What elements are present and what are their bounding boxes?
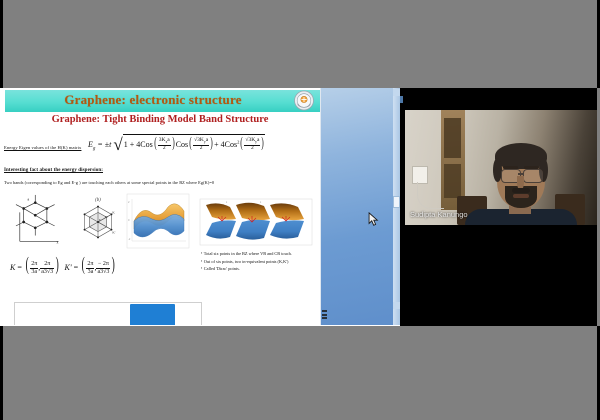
fraction-3-denominator: 2 [244,146,260,152]
radical-sign: √ [113,135,122,154]
radicand-head: 1 + 4Cos [124,140,153,149]
paren-open-2: ( [189,135,192,152]
f2nt: a [206,137,208,143]
k-paren-close: ) [56,254,59,276]
scroll-up-arrow-icon[interactable] [393,89,400,96]
fraction-2: √3Kya2 [193,138,209,152]
kp-y-num: − 2π [96,261,110,268]
svg-text:a: a [28,198,30,202]
formula-plus-sup: 2 [237,139,239,144]
webcam-left-edge [400,88,403,326]
webcam-edge-marker [400,96,403,103]
f2n: √3K [194,137,204,143]
slide-title: Graphene: electronic structure [28,92,278,108]
f3nt: a [257,137,259,143]
eyeglass-bridge [518,173,524,175]
f3n: √3K [245,137,255,143]
interesting-fact-heading: Interesting fact about the energy disper… [4,168,103,173]
scroll-down-arrow-icon[interactable] [393,302,400,309]
k-y-num: 2π [40,261,54,268]
door-panel-upper [444,118,461,158]
dirac-cone-3d-plot: kk [196,195,316,249]
energy-eigenvalue-formula: Eg = ±t √ 1 + 4Cos(3Kxa2)Cos(√3Kya2)+ 4C… [88,134,318,162]
kprime-equals: = [74,263,79,272]
scrollbar-thumb[interactable] [393,196,400,208]
panel-grip-dots-icon[interactable] [322,310,327,323]
bullet-item: Called 'Dirac' points. [201,265,316,273]
f1nt: a [167,137,169,143]
svg-text:M: M [105,215,108,219]
dirac-point-bullets: Total six points in the BZ where VB and … [196,250,316,273]
webcam-panel[interactable]: Sudipta Kanungo [400,88,597,326]
k-y-den: a3√3 [40,269,54,275]
honeycomb-lattice-diagram: a x [14,193,72,251]
figure-row: a x (b) [0,191,320,253]
fraction-3: √3Kya2 [244,138,260,152]
kprime-y-fraction: − 2πa3√3 [96,261,110,275]
fraction-1-denominator: 2 [158,146,171,152]
svg-text:(b): (b) [95,198,101,203]
kprime-paren-close: ) [112,254,115,276]
k-x-den: 3a [30,269,38,275]
k-x-num: 2π [30,261,38,268]
k-point-equations: K = (2π3a,2πa3√3) K' = (2π3a,− 2πa3√3) [10,254,117,276]
paren-close-3: ) [262,135,265,152]
institute-emblem-icon [293,90,315,111]
radicand: 1 + 4Cos(3Kxa2)Cos(√3Kya2)+ 4Cos2(√3Kya2… [123,134,266,152]
brillouin-zone-diagram: (b) Γ [74,195,122,249]
paren-close-2: ) [210,135,213,152]
eyeglass-lens-right [523,169,543,183]
presentation-side-panel[interactable] [320,88,400,325]
blue-action-button[interactable] [130,304,175,325]
vertical-scrollbar[interactable] [393,88,400,325]
svg-text:Γ: Γ [99,218,101,222]
door-panel-lower [444,164,461,198]
participant-video[interactable]: Sudipta Kanungo [405,110,597,225]
participant-moustache [512,188,530,193]
bullet-item: Total six points in the BZ where VB and … [201,250,316,258]
eigenvalue-label: Energy Eigen values of the H(K) matrix [4,145,81,150]
bullet-item: Out of six points, two in-equivalent poi… [201,258,316,266]
participant-mouth [513,194,529,198]
k-equals: = [17,263,22,272]
fraction-2-denominator: 2 [193,146,209,152]
svg-text:K': K' [112,231,115,235]
k-y-fraction: 2πa3√3 [40,261,54,275]
shared-content-region: Graphene: electronic structure Graphene:… [0,88,600,326]
formula-equals: = ±t [97,140,111,149]
kp-y-den: a3√3 [96,269,110,275]
kprime-paren-open: ( [82,254,85,276]
presentation-window[interactable]: Graphene: electronic structure Graphene:… [0,88,400,326]
kprime-label: K' [65,263,72,272]
svg-text:K: K [112,210,115,214]
formula-lhs-sub: g [93,147,96,152]
formula-mid: Cos [176,140,188,149]
slide-subtitle: Graphene: Tight Binding Model Band Struc… [0,114,320,125]
slide-canvas[interactable]: Graphene: electronic structure Graphene:… [0,88,320,325]
formula-plus: + 4Cos [214,140,237,149]
svg-text:x: x [57,240,59,244]
k-paren-open: ( [25,254,28,276]
paren-open-1: ( [154,135,157,152]
screen-root: Graphene: electronic structure Graphene:… [0,0,600,420]
two-bands-text: Two bands (corresponding to Eg and E-g )… [4,180,316,185]
k-x-fraction: 2π3a [30,261,38,275]
paren-open-3: ( [241,135,244,152]
band-structure-3d-plot: 20-2 [124,191,192,251]
k-label: K [10,263,15,272]
mouse-pointer-icon [368,212,379,227]
hanging-cord [417,182,444,209]
participant-name-label: Sudipta Kanungo [410,210,468,219]
fraction-1: 3Kxa2 [158,138,171,152]
paren-close-1: ) [172,135,175,152]
